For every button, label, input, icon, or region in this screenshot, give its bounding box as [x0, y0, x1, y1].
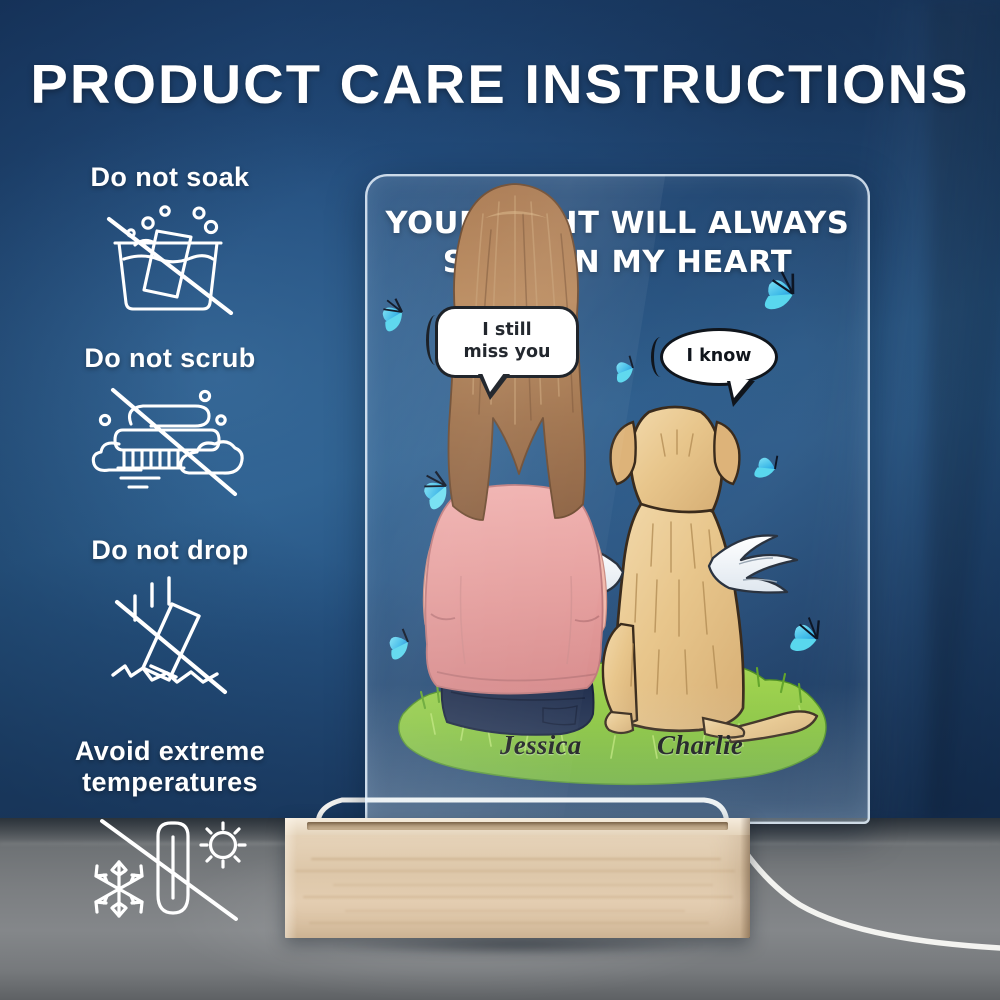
bubble-tail — [727, 381, 755, 407]
butterfly-icon — [789, 615, 822, 656]
wooden-led-base — [285, 818, 750, 938]
base-left-edge — [285, 818, 297, 938]
care-item-label: Do not scrub — [0, 343, 340, 374]
no-extreme-temperature-icon — [72, 803, 268, 931]
care-item-do-not-drop: Do not drop — [0, 535, 340, 698]
care-instruction-list: Do not soak — [0, 0, 340, 960]
care-item-do-not-scrub: Do not scrub — [0, 343, 340, 500]
care-item-label: Avoid extreme temperatures — [0, 736, 340, 799]
bubble-arc — [651, 337, 667, 377]
speech-bubble-text: I know — [687, 346, 752, 368]
care-item-label: Do not drop — [0, 535, 340, 566]
butterfly-icon — [764, 270, 796, 313]
butterfly-icon — [753, 451, 779, 482]
care-item-label: Do not soak — [0, 162, 340, 193]
base-plaque-slot — [307, 822, 728, 830]
acrylic-plaque: YOUR LIGHT WILL ALWAYS SHINE IN MY HEART — [365, 174, 870, 824]
product-care-instructions-image: PRODUCT CARE INSTRUCTIONS Do not soak — [0, 0, 1000, 1000]
base-right-edge — [740, 818, 750, 938]
no-soak-icon — [95, 197, 245, 315]
led-glow — [365, 684, 870, 824]
speech-bubble-dog: I know — [660, 328, 778, 386]
no-drop-icon — [95, 570, 245, 698]
care-item-do-not-soak: Do not soak — [0, 162, 340, 315]
no-scrub-icon — [85, 378, 255, 500]
